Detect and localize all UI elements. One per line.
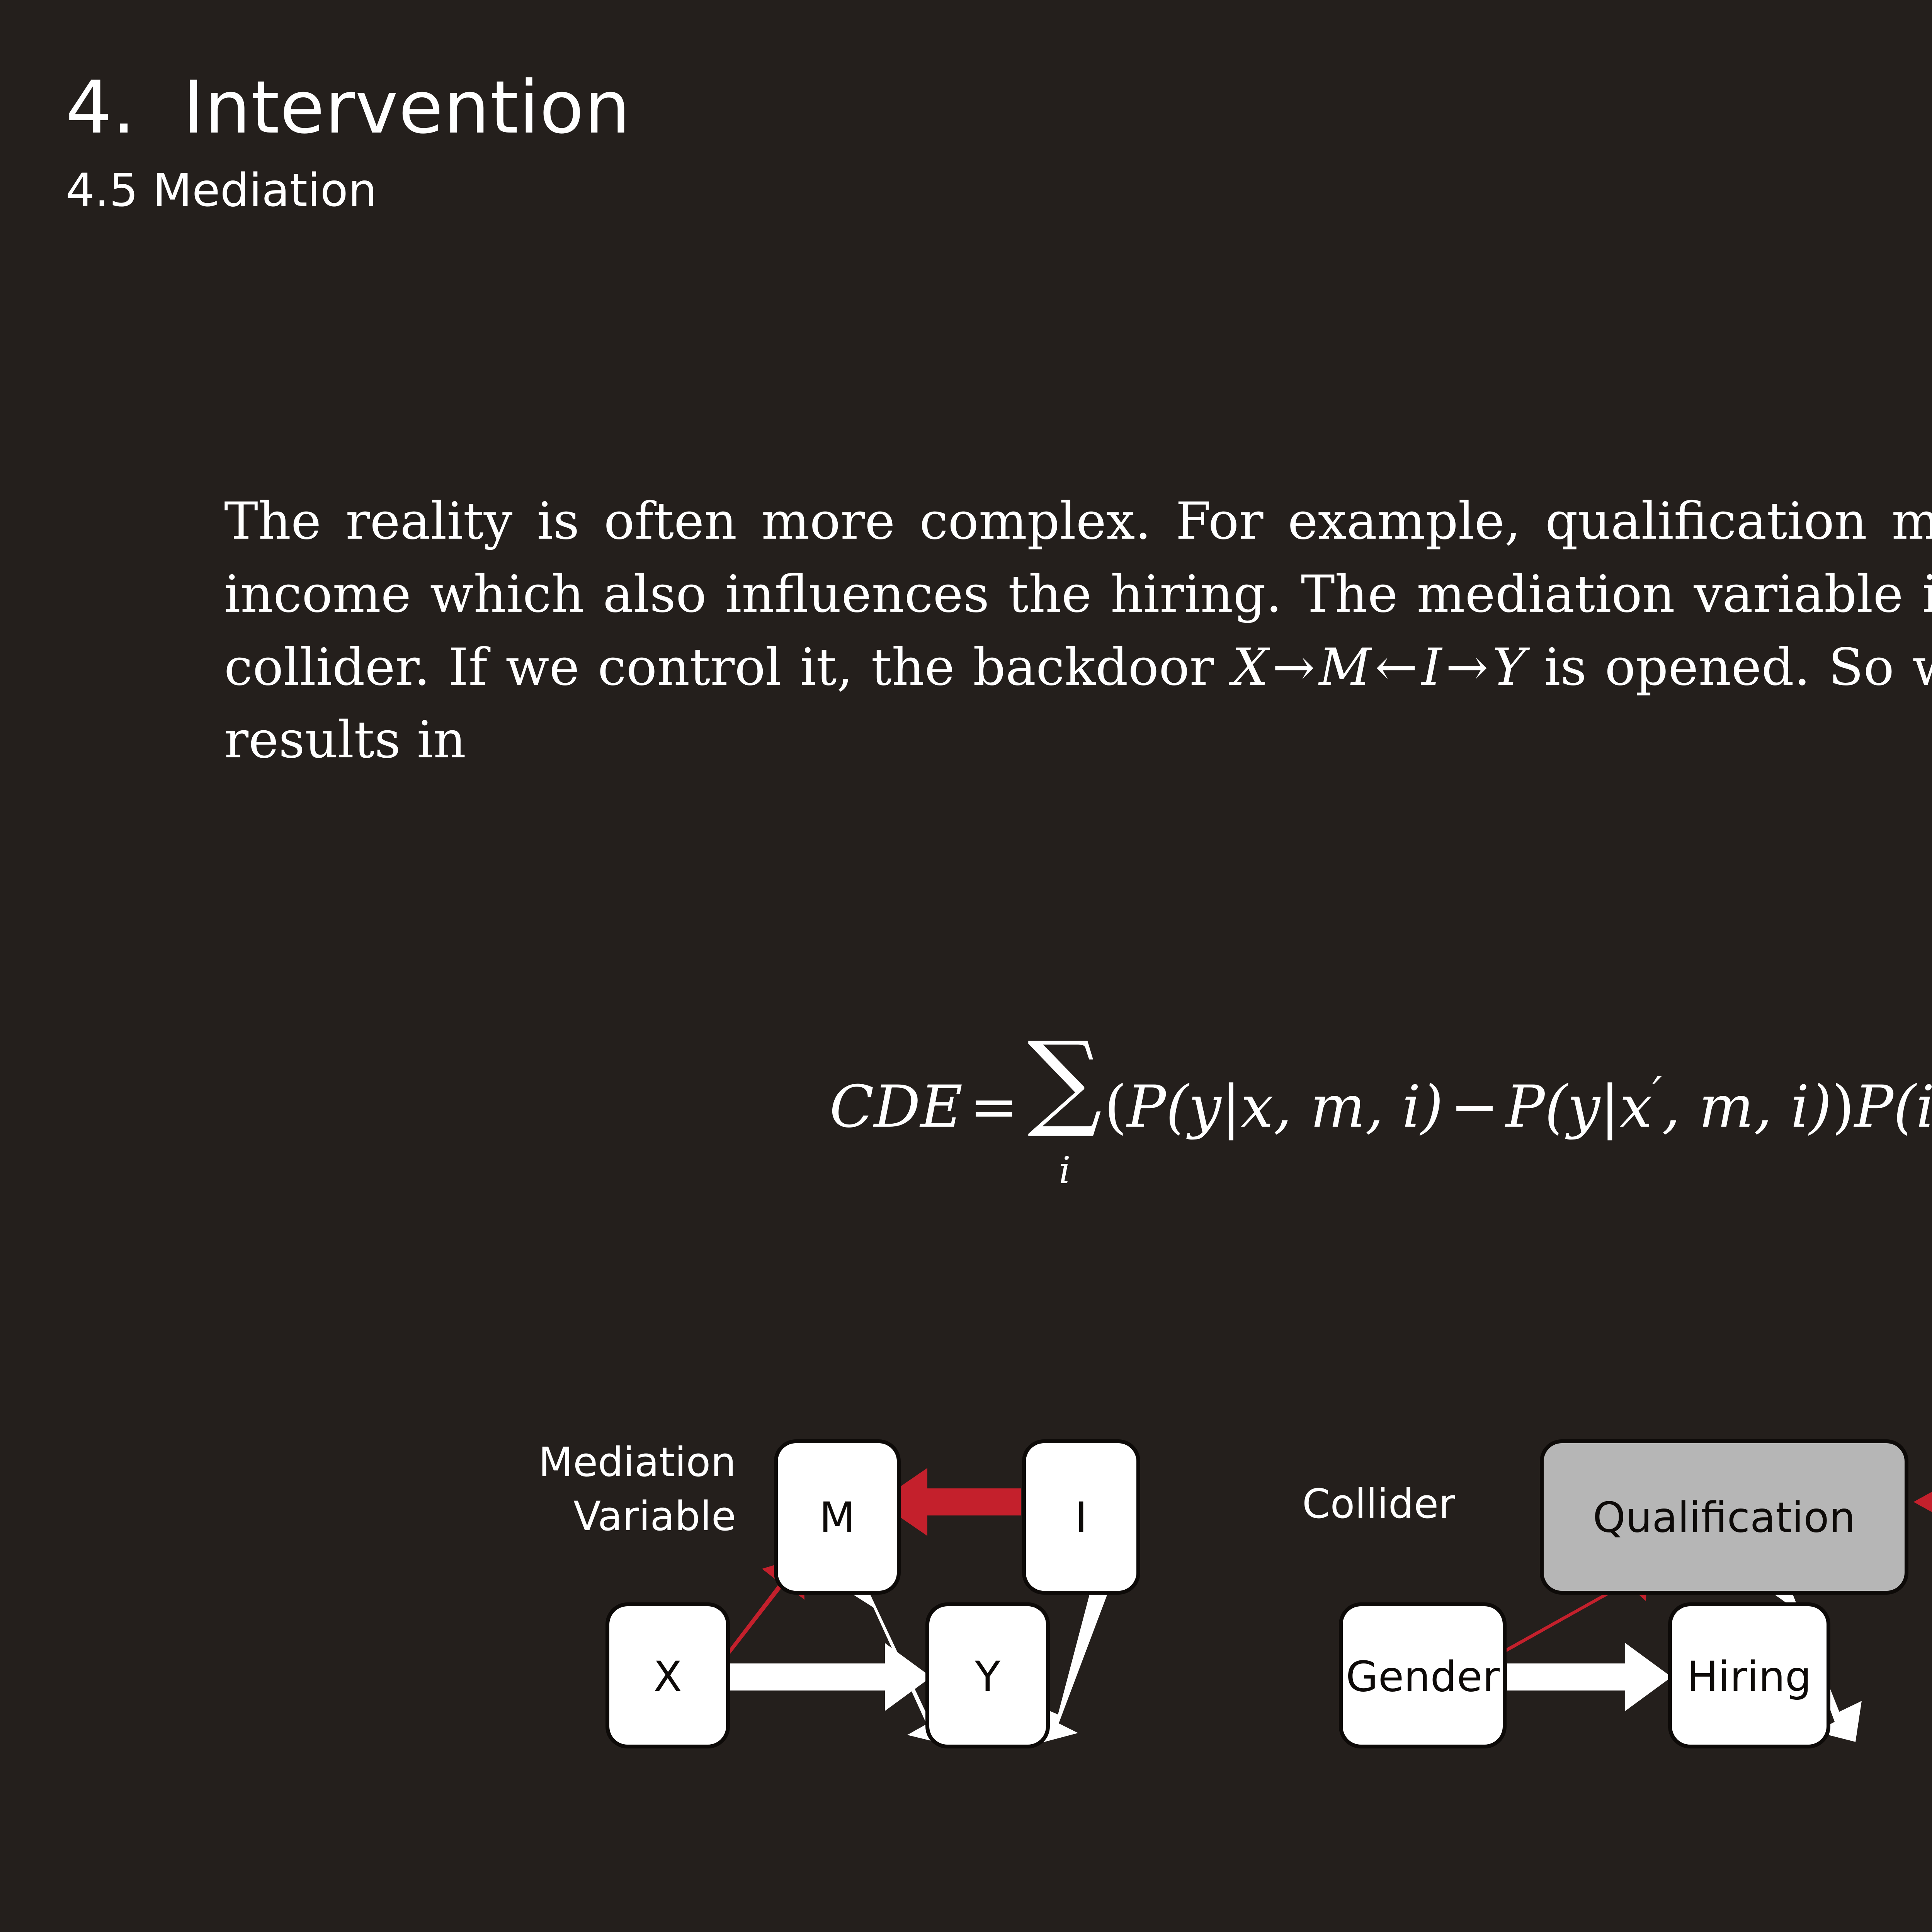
node-i[interactable]: I (1024, 1441, 1138, 1593)
diagram-right: Collider Qualific (1302, 1441, 1932, 1747)
formula-close-paren: ) (1832, 1073, 1855, 1141)
node-qualification-label: Qualification (1593, 1494, 1855, 1542)
node-gender-label: Gender (1346, 1653, 1500, 1701)
edge-x-to-y (730, 1643, 931, 1711)
math-y: Y (1492, 638, 1526, 697)
formula-term2-args-pre: (y|x (1545, 1073, 1652, 1141)
formula-lhs: CDE (830, 1073, 963, 1141)
edge-income-to-qualification (1913, 1468, 1932, 1536)
arrow-right-icon: → (1269, 638, 1319, 697)
node-y-label: Y (975, 1653, 1001, 1701)
math-m: M (1319, 638, 1371, 697)
mediation-variable-label-line2: Variable (573, 1493, 736, 1540)
arrow-right-icon-2: → (1442, 638, 1492, 697)
node-y[interactable]: Y (927, 1604, 1048, 1747)
cde-formula: CDE=∑i(P(y|x, m, i)−P(y|x′, m, i))P(i) (0, 1032, 1932, 1192)
math-i: I (1422, 638, 1442, 697)
header: 4. Intervention 4.5 Mediation (66, 70, 1932, 217)
body-text-2: is opened. So we need to adjust for (1526, 638, 1932, 697)
formula-equals: = (963, 1073, 1025, 1141)
node-qualification[interactable]: Qualification (1542, 1441, 1906, 1593)
node-hiring-label: Hiring (1687, 1653, 1812, 1701)
mediation-variable-label-line1: Mediation (538, 1439, 736, 1486)
node-hiring[interactable]: Hiring (1670, 1604, 1828, 1747)
page-subtitle: 4.5 Mediation (66, 163, 1932, 217)
arrow-left-icon: ← (1371, 638, 1422, 697)
slide-canvas: 4. Intervention 4.5 Mediation The realit… (0, 0, 1932, 1932)
math-x: X (1232, 638, 1269, 697)
node-m-label: M (819, 1494, 855, 1542)
formula-term1-p: P (1127, 1073, 1166, 1141)
formula-term2-p: P (1506, 1073, 1545, 1141)
node-m[interactable]: M (776, 1441, 899, 1593)
causal-diagrams: Mediation Variable (0, 1314, 1932, 1835)
formula-open-paren: ( (1104, 1073, 1127, 1141)
sigma-icon: ∑ (1027, 1019, 1102, 1141)
page-title: 4. Intervention (66, 70, 1932, 146)
diagram-left: Mediation Variable (538, 1439, 1138, 1747)
body-paragraph: The reality is often more complex. For e… (224, 485, 1932, 777)
formula-term1-args: (y|x, m, i) (1166, 1073, 1443, 1141)
node-gender[interactable]: Gender (1341, 1604, 1505, 1747)
summation: ∑i (1027, 1037, 1102, 1197)
collider-label: Collider (1302, 1480, 1455, 1527)
sum-index: i (1059, 1149, 1071, 1192)
edge-gender-to-hiring (1507, 1643, 1672, 1711)
node-x-label: X (653, 1653, 682, 1701)
node-x[interactable]: X (607, 1604, 728, 1747)
formula-term3-args: (i) (1893, 1073, 1932, 1141)
formula-minus: − (1443, 1073, 1506, 1141)
formula-term2-args-post: , m, i) (1662, 1073, 1832, 1141)
formula-prime: ′ (1652, 1068, 1662, 1117)
node-i-label: I (1075, 1494, 1087, 1542)
formula-term3-p: P (1854, 1073, 1893, 1141)
